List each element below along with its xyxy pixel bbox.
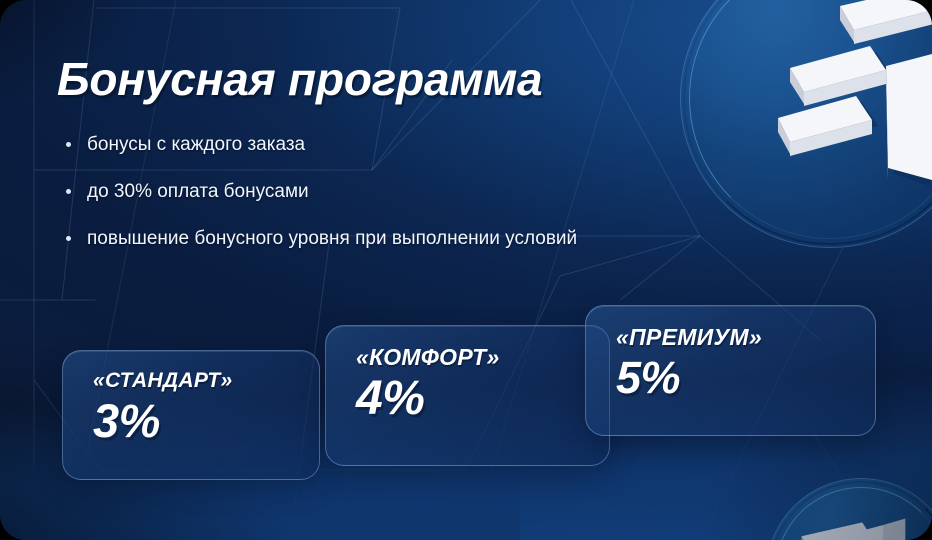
page-title: Бонусная программа [57,52,542,106]
brand-bars-logo-icon [766,478,932,540]
bonus-program-banner: Бонусная программа бонусы с каждого зака… [0,0,932,540]
brand-logo-primary [680,0,932,248]
tier-percent: 5% [616,355,853,401]
list-item-label: до 30% оплата бонусами [87,180,309,204]
tier-card-standard: «СТАНДАРТ» 3% [62,350,320,480]
list-item-label: повышение бонусного уровня при выполнени… [87,227,577,251]
tier-card-premium: «ПРЕМИУМ» 5% [585,305,876,436]
tier-name: «СТАНДАРТ» [93,369,297,393]
bullet-dot-icon [66,142,71,147]
brand-bars-logo-icon [680,0,932,248]
list-item: до 30% оплата бонусами [66,180,577,204]
list-item: повышение бонусного уровня при выполнени… [66,227,577,251]
list-item-label: бонусы с каждого заказа [87,133,305,157]
brand-logo-secondary [766,478,932,540]
feature-list: бонусы с каждого заказа до 30% оплата бо… [66,133,577,250]
tier-percent: 4% [356,375,587,424]
tier-card-comfort: «КОМФОРТ» 4% [325,325,610,466]
tier-name: «КОМФОРТ» [356,344,587,371]
bullet-dot-icon [66,189,71,194]
bullet-dot-icon [66,236,71,241]
tier-name: «ПРЕМИУМ» [616,324,853,351]
tier-percent: 3% [93,397,297,445]
list-item: бонусы с каждого заказа [66,133,577,157]
